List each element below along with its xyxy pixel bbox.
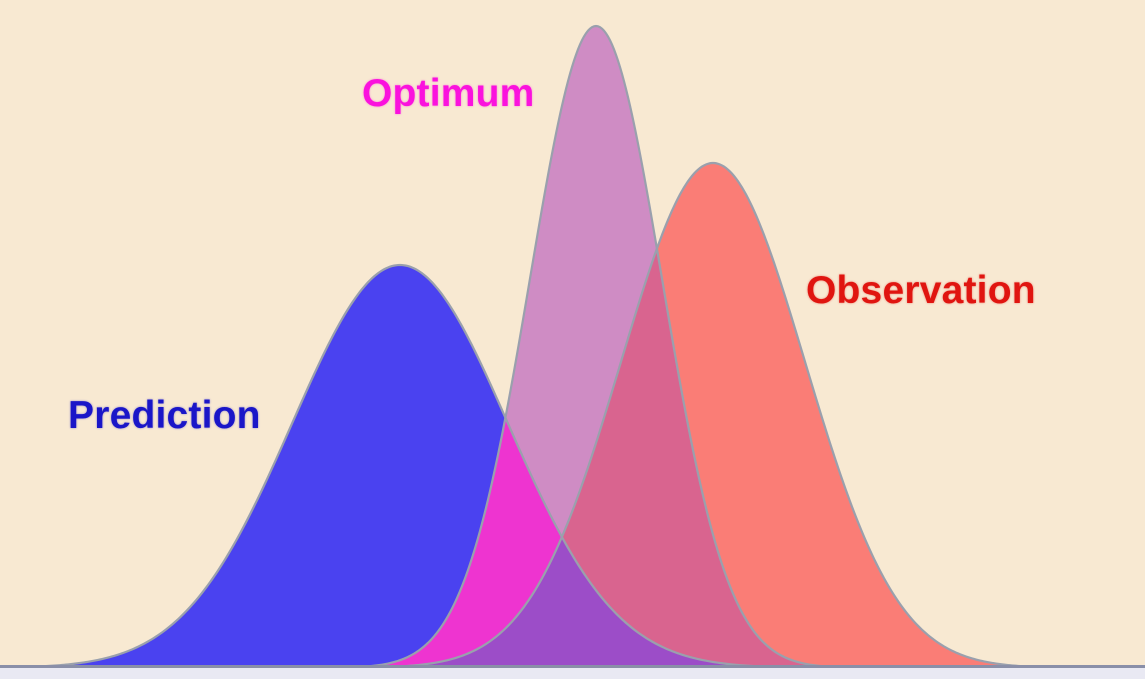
label-prediction: Prediction bbox=[68, 396, 261, 435]
gaussian-overlap-figure: Prediction Optimum Observation bbox=[0, 0, 1145, 679]
axis-baseline bbox=[0, 665, 1145, 668]
axis-baseline-shadow bbox=[0, 668, 1145, 679]
distribution-curves-svg bbox=[0, 0, 1145, 679]
label-observation: Observation bbox=[806, 271, 1036, 310]
label-optimum: Optimum bbox=[362, 74, 535, 113]
